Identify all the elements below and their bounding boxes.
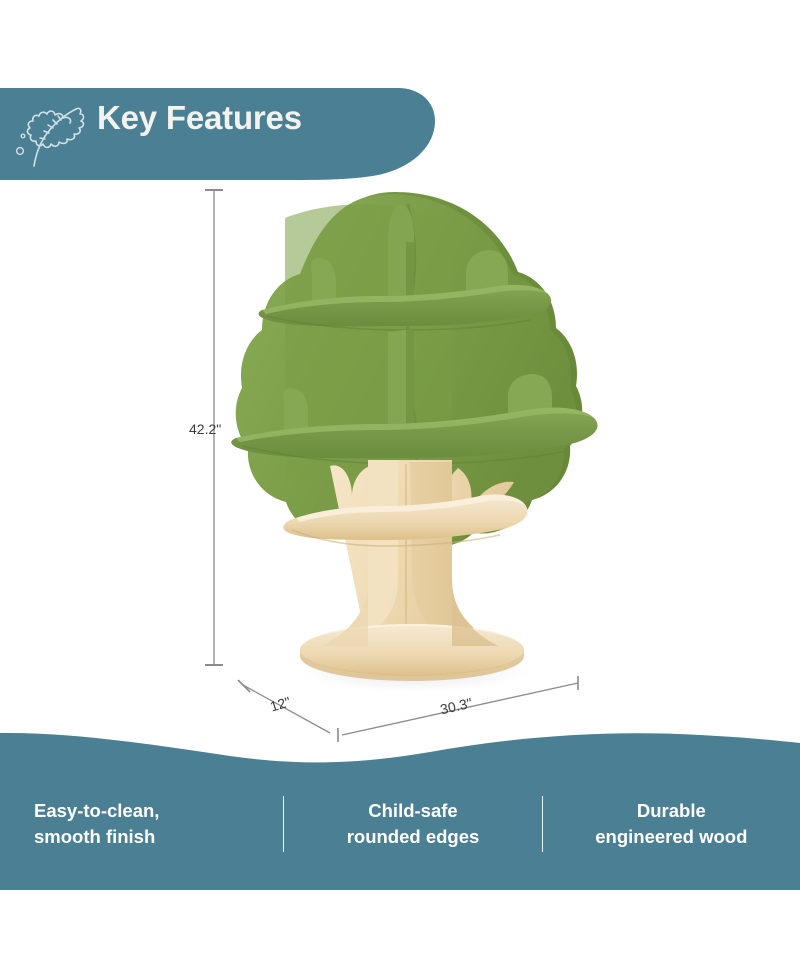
product-image-tree-bookshelf bbox=[0, 180, 800, 720]
footer-feature-1-line2: smooth finish bbox=[34, 824, 275, 850]
footer-feature-2-line1: Child-safe bbox=[292, 798, 533, 824]
leaf-icon bbox=[10, 92, 90, 172]
infographic-page: Key Features bbox=[0, 0, 800, 977]
footer-feature-band: Easy-to-clean, smooth finish Child-safe … bbox=[0, 718, 800, 893]
footer-feature-1: Easy-to-clean, smooth finish bbox=[0, 798, 283, 851]
footer-feature-3-line2: engineered wood bbox=[551, 824, 792, 850]
footer-feature-2: Child-safe rounded edges bbox=[284, 798, 541, 851]
footer-feature-3: Durable engineered wood bbox=[543, 798, 800, 851]
page-title: Key Features bbox=[97, 99, 302, 137]
footer-feature-1-line1: Easy-to-clean, bbox=[34, 798, 275, 824]
footer-feature-row: Easy-to-clean, smooth finish Child-safe … bbox=[0, 778, 800, 870]
footer-feature-2-line2: rounded edges bbox=[292, 824, 533, 850]
footer-feature-3-line1: Durable bbox=[551, 798, 792, 824]
footer-divider-1 bbox=[283, 796, 284, 852]
footer-divider-2 bbox=[542, 796, 543, 852]
